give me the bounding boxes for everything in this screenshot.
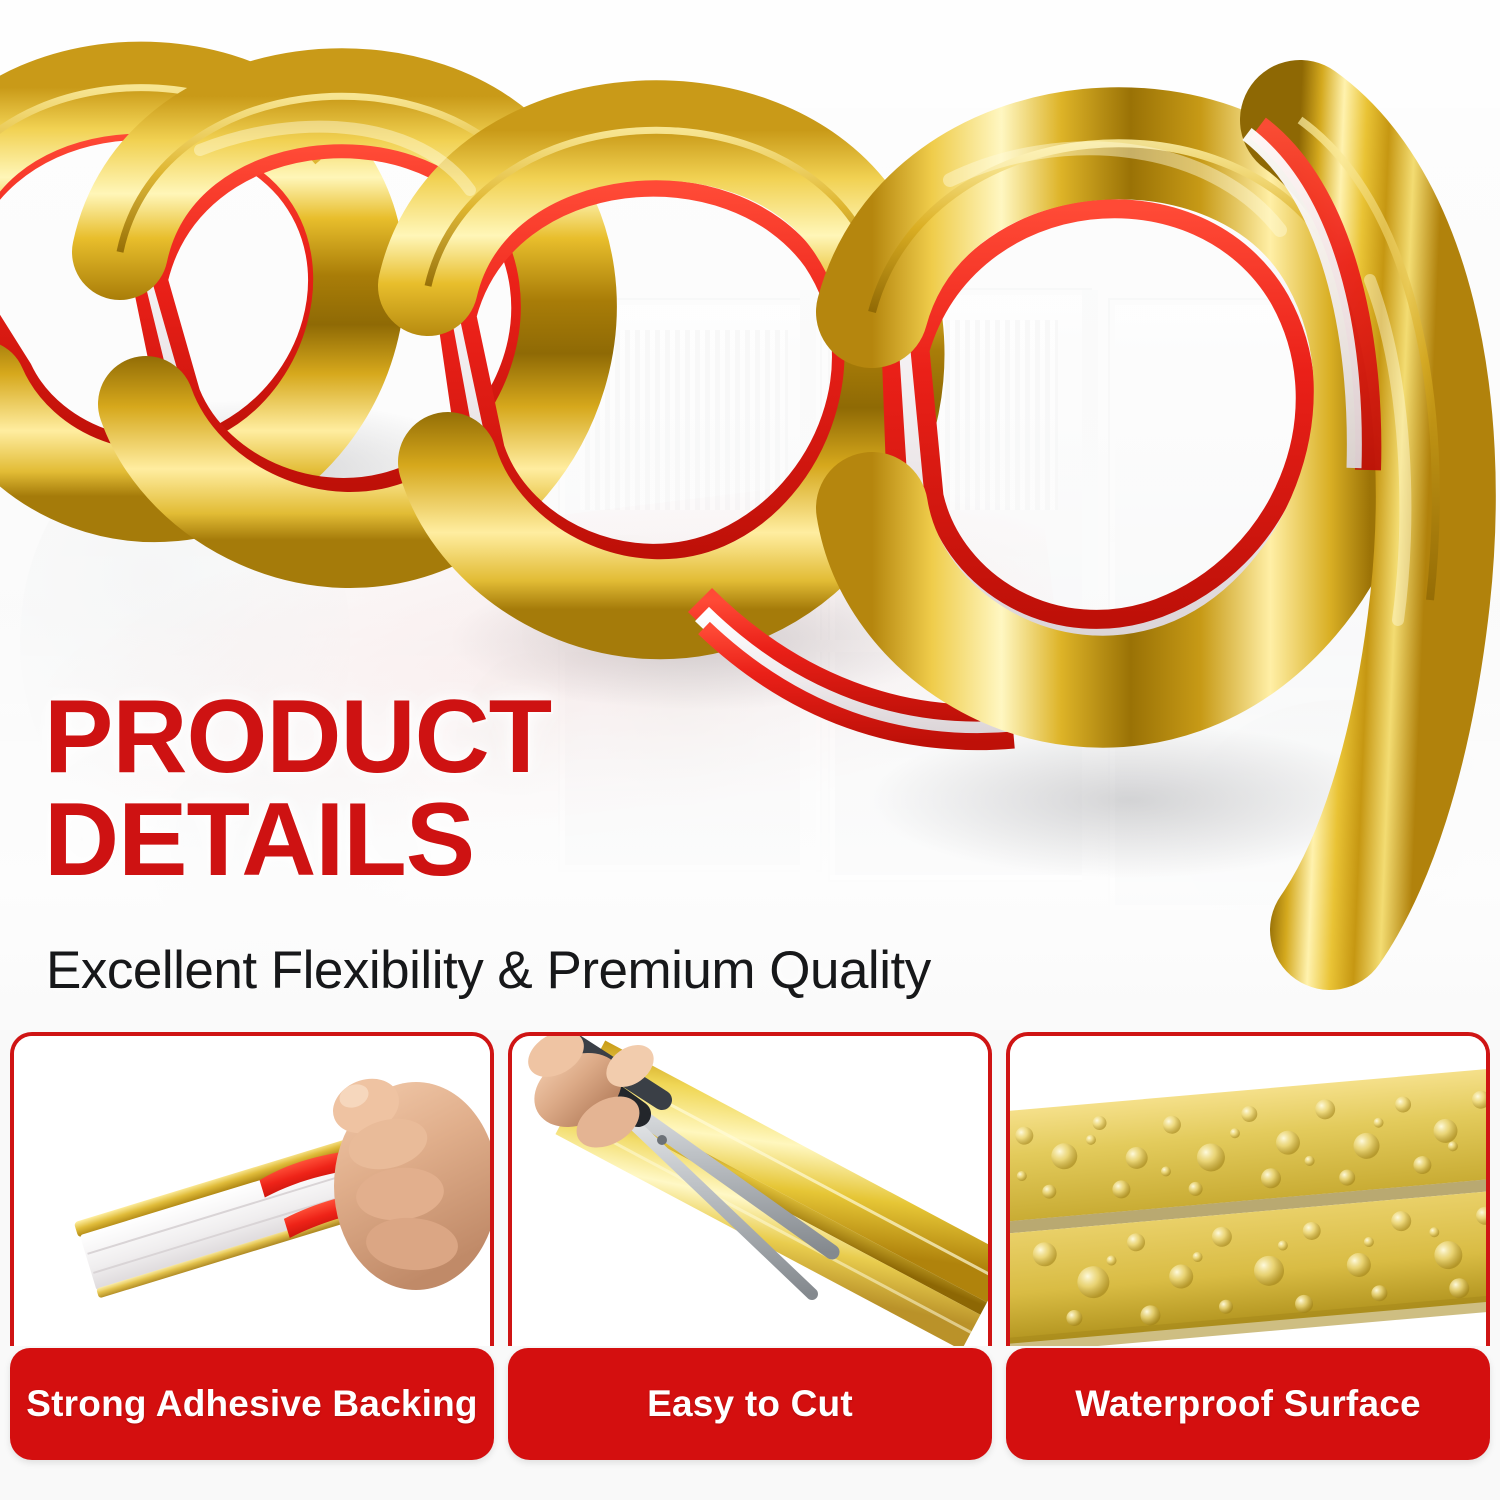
scissors-cutting-illustration: [512, 1036, 992, 1346]
feature-caption-waterproof: Waterproof Surface: [1006, 1348, 1490, 1460]
water-droplets-illustration: [1010, 1036, 1490, 1346]
feature-panels: Strong Adhesive Backing: [0, 1032, 1500, 1500]
product-detail-infographic: PRODUCT DETAILS Excellent Flexibility & …: [0, 0, 1500, 1500]
feature-thumbnail-adhesive: [10, 1032, 494, 1346]
feature-caption-adhesive: Strong Adhesive Backing: [10, 1348, 494, 1460]
feature-thumbnail-cut: [508, 1032, 992, 1346]
page-subtitle: Excellent Flexibility & Premium Quality: [46, 940, 931, 1001]
feature-card-cut: Easy to Cut: [508, 1032, 992, 1500]
hero-section: PRODUCT DETAILS Excellent Flexibility & …: [0, 0, 1500, 1030]
adhesive-peel-illustration: [14, 1036, 494, 1346]
feature-card-waterproof: Waterproof Surface: [1006, 1032, 1490, 1500]
feature-thumbnail-waterproof: [1006, 1032, 1490, 1346]
headline-line-2: DETAILS: [44, 789, 551, 892]
page-title: PRODUCT DETAILS: [44, 686, 551, 892]
headline-line-1: PRODUCT: [44, 679, 551, 795]
feature-card-adhesive: Strong Adhesive Backing: [10, 1032, 494, 1500]
feature-caption-cut: Easy to Cut: [508, 1348, 992, 1460]
